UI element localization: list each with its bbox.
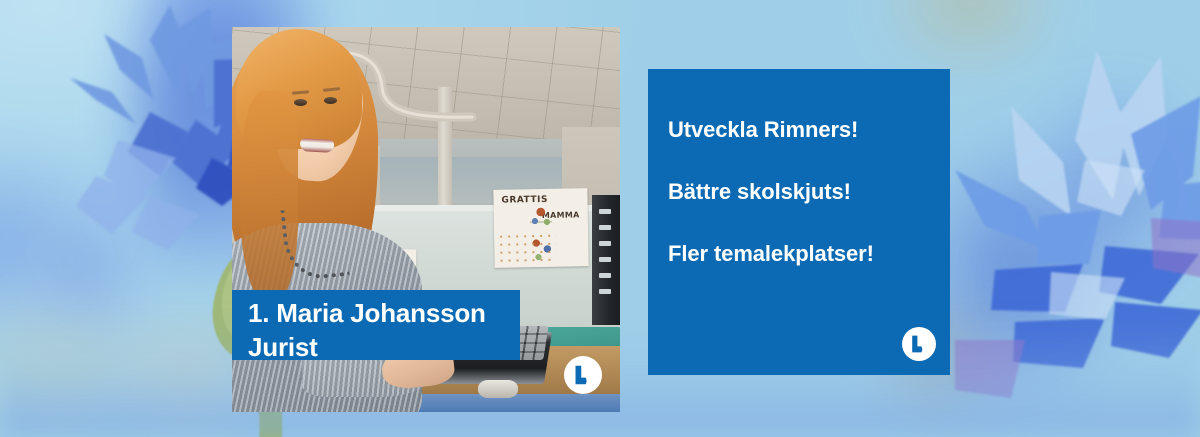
candidate-photo-card: GRATTIS MAMMA TILL ANNA bbox=[232, 27, 620, 412]
person-eye-right bbox=[324, 97, 337, 104]
slogan-item-2: Bättre skolskjuts! bbox=[668, 179, 940, 205]
candidate-name-line: 1. Maria Johansson bbox=[248, 296, 506, 330]
computer-mouse bbox=[478, 380, 518, 398]
slogan-panel: Utveckla Rimners! Bättre skolskjuts! Fle… bbox=[648, 69, 950, 375]
slogan-item-1: Utveckla Rimners! bbox=[668, 117, 940, 143]
slogan-item-3: Fler temalekplatser! bbox=[668, 241, 940, 267]
liberalerna-l-logo-icon bbox=[564, 356, 602, 394]
office-equipment-rack bbox=[592, 195, 620, 325]
person-eye-left bbox=[294, 99, 307, 106]
candidate-name-badge: 1. Maria Johansson Jurist bbox=[232, 290, 520, 360]
liberalerna-l-logo-icon bbox=[902, 327, 936, 361]
person-smile bbox=[300, 138, 335, 153]
drawing-dot-pattern bbox=[498, 233, 557, 264]
slogan-list: Utveckla Rimners! Bättre skolskjuts! Fle… bbox=[668, 117, 940, 267]
childrens-drawing-grattis: GRATTIS MAMMA bbox=[493, 188, 588, 268]
person-hair-strand bbox=[240, 91, 298, 303]
candidate-title-line: Jurist bbox=[248, 330, 506, 364]
